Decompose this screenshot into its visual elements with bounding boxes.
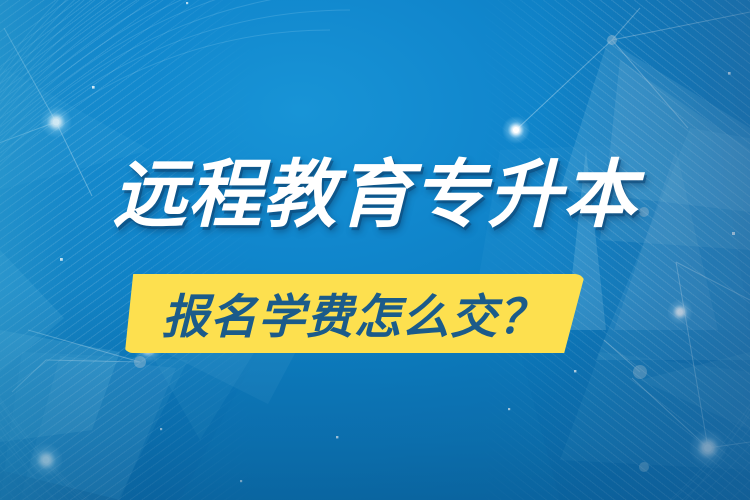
banner-subtitle: 报名学费怎么交？ <box>123 274 585 353</box>
banner-headline: 远程教育专升本 <box>0 158 750 232</box>
banner-copy: 远程教育专升本 报名学费怎么交？ <box>0 0 750 500</box>
promo-banner: 远程教育专升本 报名学费怎么交？ <box>0 0 750 500</box>
subtitle-ribbon: 报名学费怎么交？ <box>123 274 585 353</box>
